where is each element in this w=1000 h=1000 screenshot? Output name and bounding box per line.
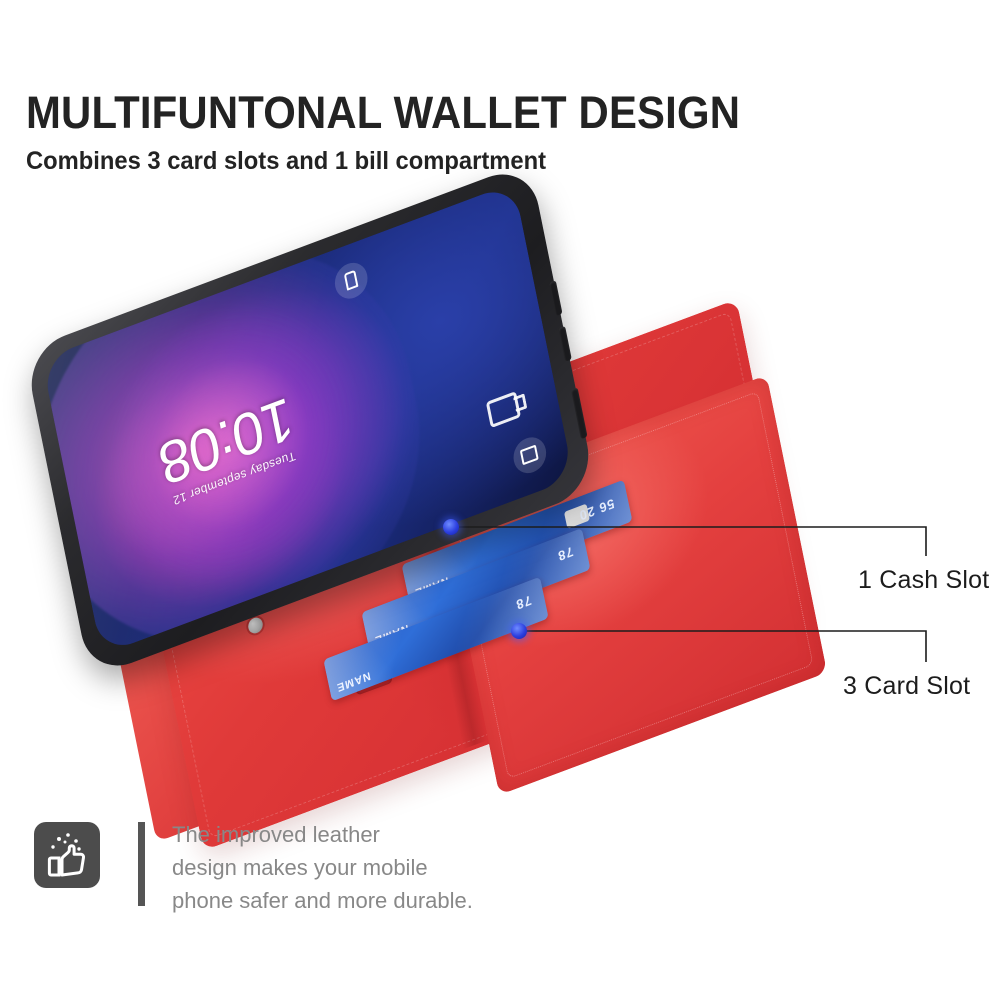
flashlight-glyph [344, 270, 359, 291]
callout-anchor-dot-cash [443, 519, 459, 535]
product-photo: USA 56 20 NAME 78 NAME 78 NAME [0, 230, 1000, 790]
thumbs-up-icon [34, 822, 100, 888]
callout-anchor-dot-card [511, 623, 527, 639]
footer-line-3: phone safer and more durable. [172, 884, 473, 917]
footer-divider [138, 822, 145, 906]
page-subtitle: Combines 3 card slots and 1 bill compart… [26, 146, 919, 176]
footer-block: The improved leather design makes your m… [34, 818, 734, 928]
product-feature-page: MULTIFUNTONAL WALLET DESIGN Combines 3 c… [0, 0, 1000, 1000]
camera-glyph [520, 445, 539, 466]
footer-line-1: The improved leather [172, 818, 473, 851]
footer-text: The improved leather design makes your m… [172, 818, 473, 917]
header-block: MULTIFUNTONAL WALLET DESIGN Combines 3 c… [26, 88, 966, 176]
callout-label-cash-slot: 1 Cash Slot [858, 566, 989, 595]
callout-label-card-slot: 3 Card Slot [843, 672, 970, 701]
footer-line-2: design makes your mobile [172, 851, 473, 884]
page-title: MULTIFUNTONAL WALLET DESIGN [26, 88, 900, 138]
